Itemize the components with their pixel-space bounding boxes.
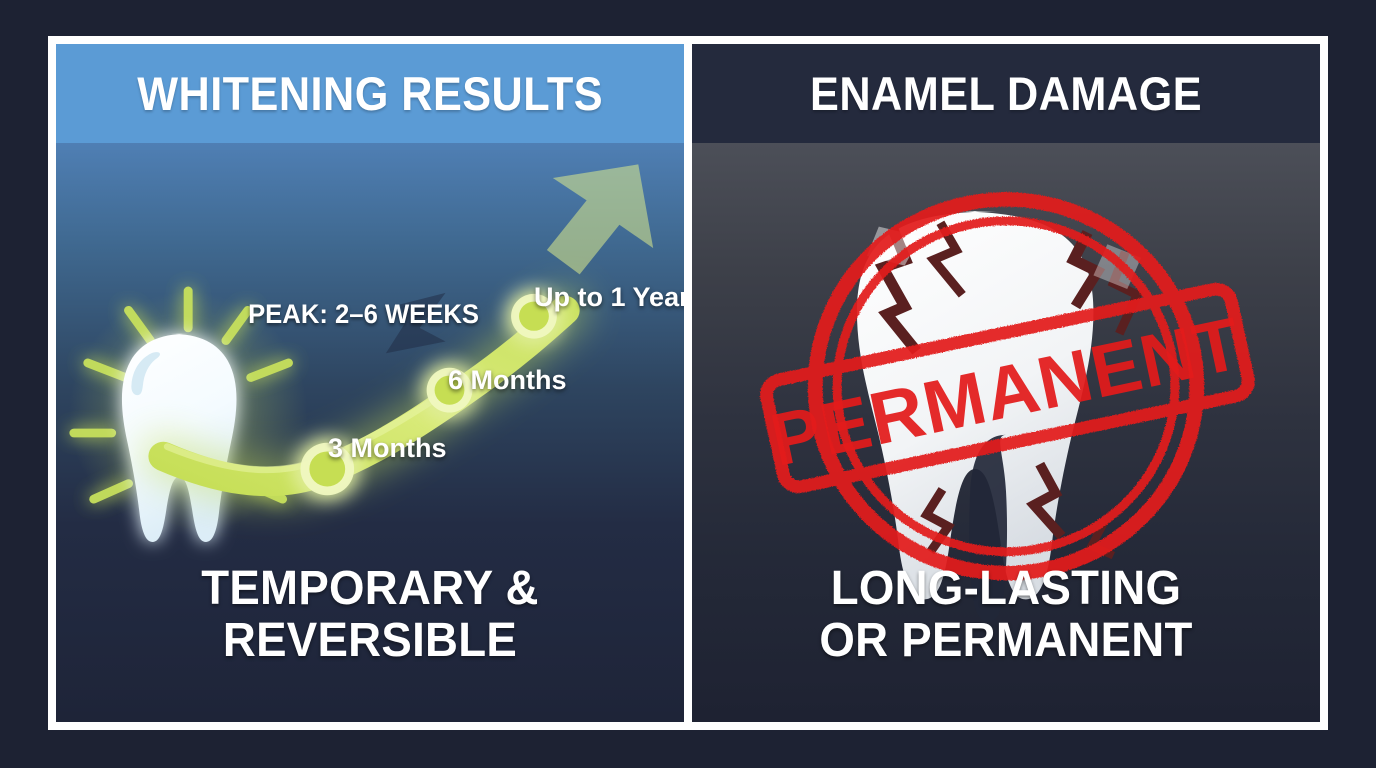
right-panel-caption: LONG-LASTING OR PERMANENT — [708, 563, 1305, 666]
right-caption-line2: OR PERMANENT — [708, 615, 1305, 666]
left-panel-title: WHITENING RESULTS — [137, 66, 603, 121]
right-caption-line1: LONG-LASTING — [708, 563, 1305, 614]
left-panel-caption: TEMPORARY & REVERSIBLE — [72, 563, 669, 666]
timeline-label-peak-line2: 2–6 WEEKS — [335, 299, 479, 329]
upward-trend-arrow-icon — [547, 164, 653, 274]
timeline-label-1-year-line1: Up to — [534, 282, 603, 312]
panel-whitening-results: WHITENING RESULTS — [56, 44, 684, 722]
left-panel-body: PEAK: 2–6 WEEKS 3 Months 6 Months Up to … — [56, 143, 684, 722]
panel-enamel-damage: ENAMEL DAMAGE — [692, 44, 1320, 722]
infographic-canvas: WHITENING RESULTS — [0, 0, 1376, 768]
right-panel-header: ENAMEL DAMAGE — [692, 44, 1320, 143]
timeline-label-peak-line1: PEAK: — [248, 299, 328, 329]
right-panel-title: ENAMEL DAMAGE — [810, 66, 1202, 121]
left-caption-line2: REVERSIBLE — [72, 615, 669, 666]
left-panel-header: WHITENING RESULTS — [56, 44, 684, 143]
infographic-frame: WHITENING RESULTS — [48, 36, 1328, 730]
timeline-label-6-months: 6 Months — [448, 365, 567, 395]
cracked-tooth-icon — [857, 211, 1141, 622]
timeline-label-peak: PEAK: 2–6 WEEKS — [248, 299, 479, 329]
right-panel-body: PERMANENT LONG-LASTING OR PERMANENT — [692, 143, 1320, 722]
timeline-label-1-year: Up to 1 Year — [534, 283, 684, 313]
left-caption-line1: TEMPORARY & — [72, 563, 669, 614]
timeline-label-1-year-line2: 1 Year — [611, 282, 685, 312]
timeline-label-3-months: 3 Months — [328, 433, 447, 463]
timeline-label-3-months-text: 3 Months — [328, 433, 447, 463]
timeline-label-6-months-text: 6 Months — [448, 365, 567, 395]
